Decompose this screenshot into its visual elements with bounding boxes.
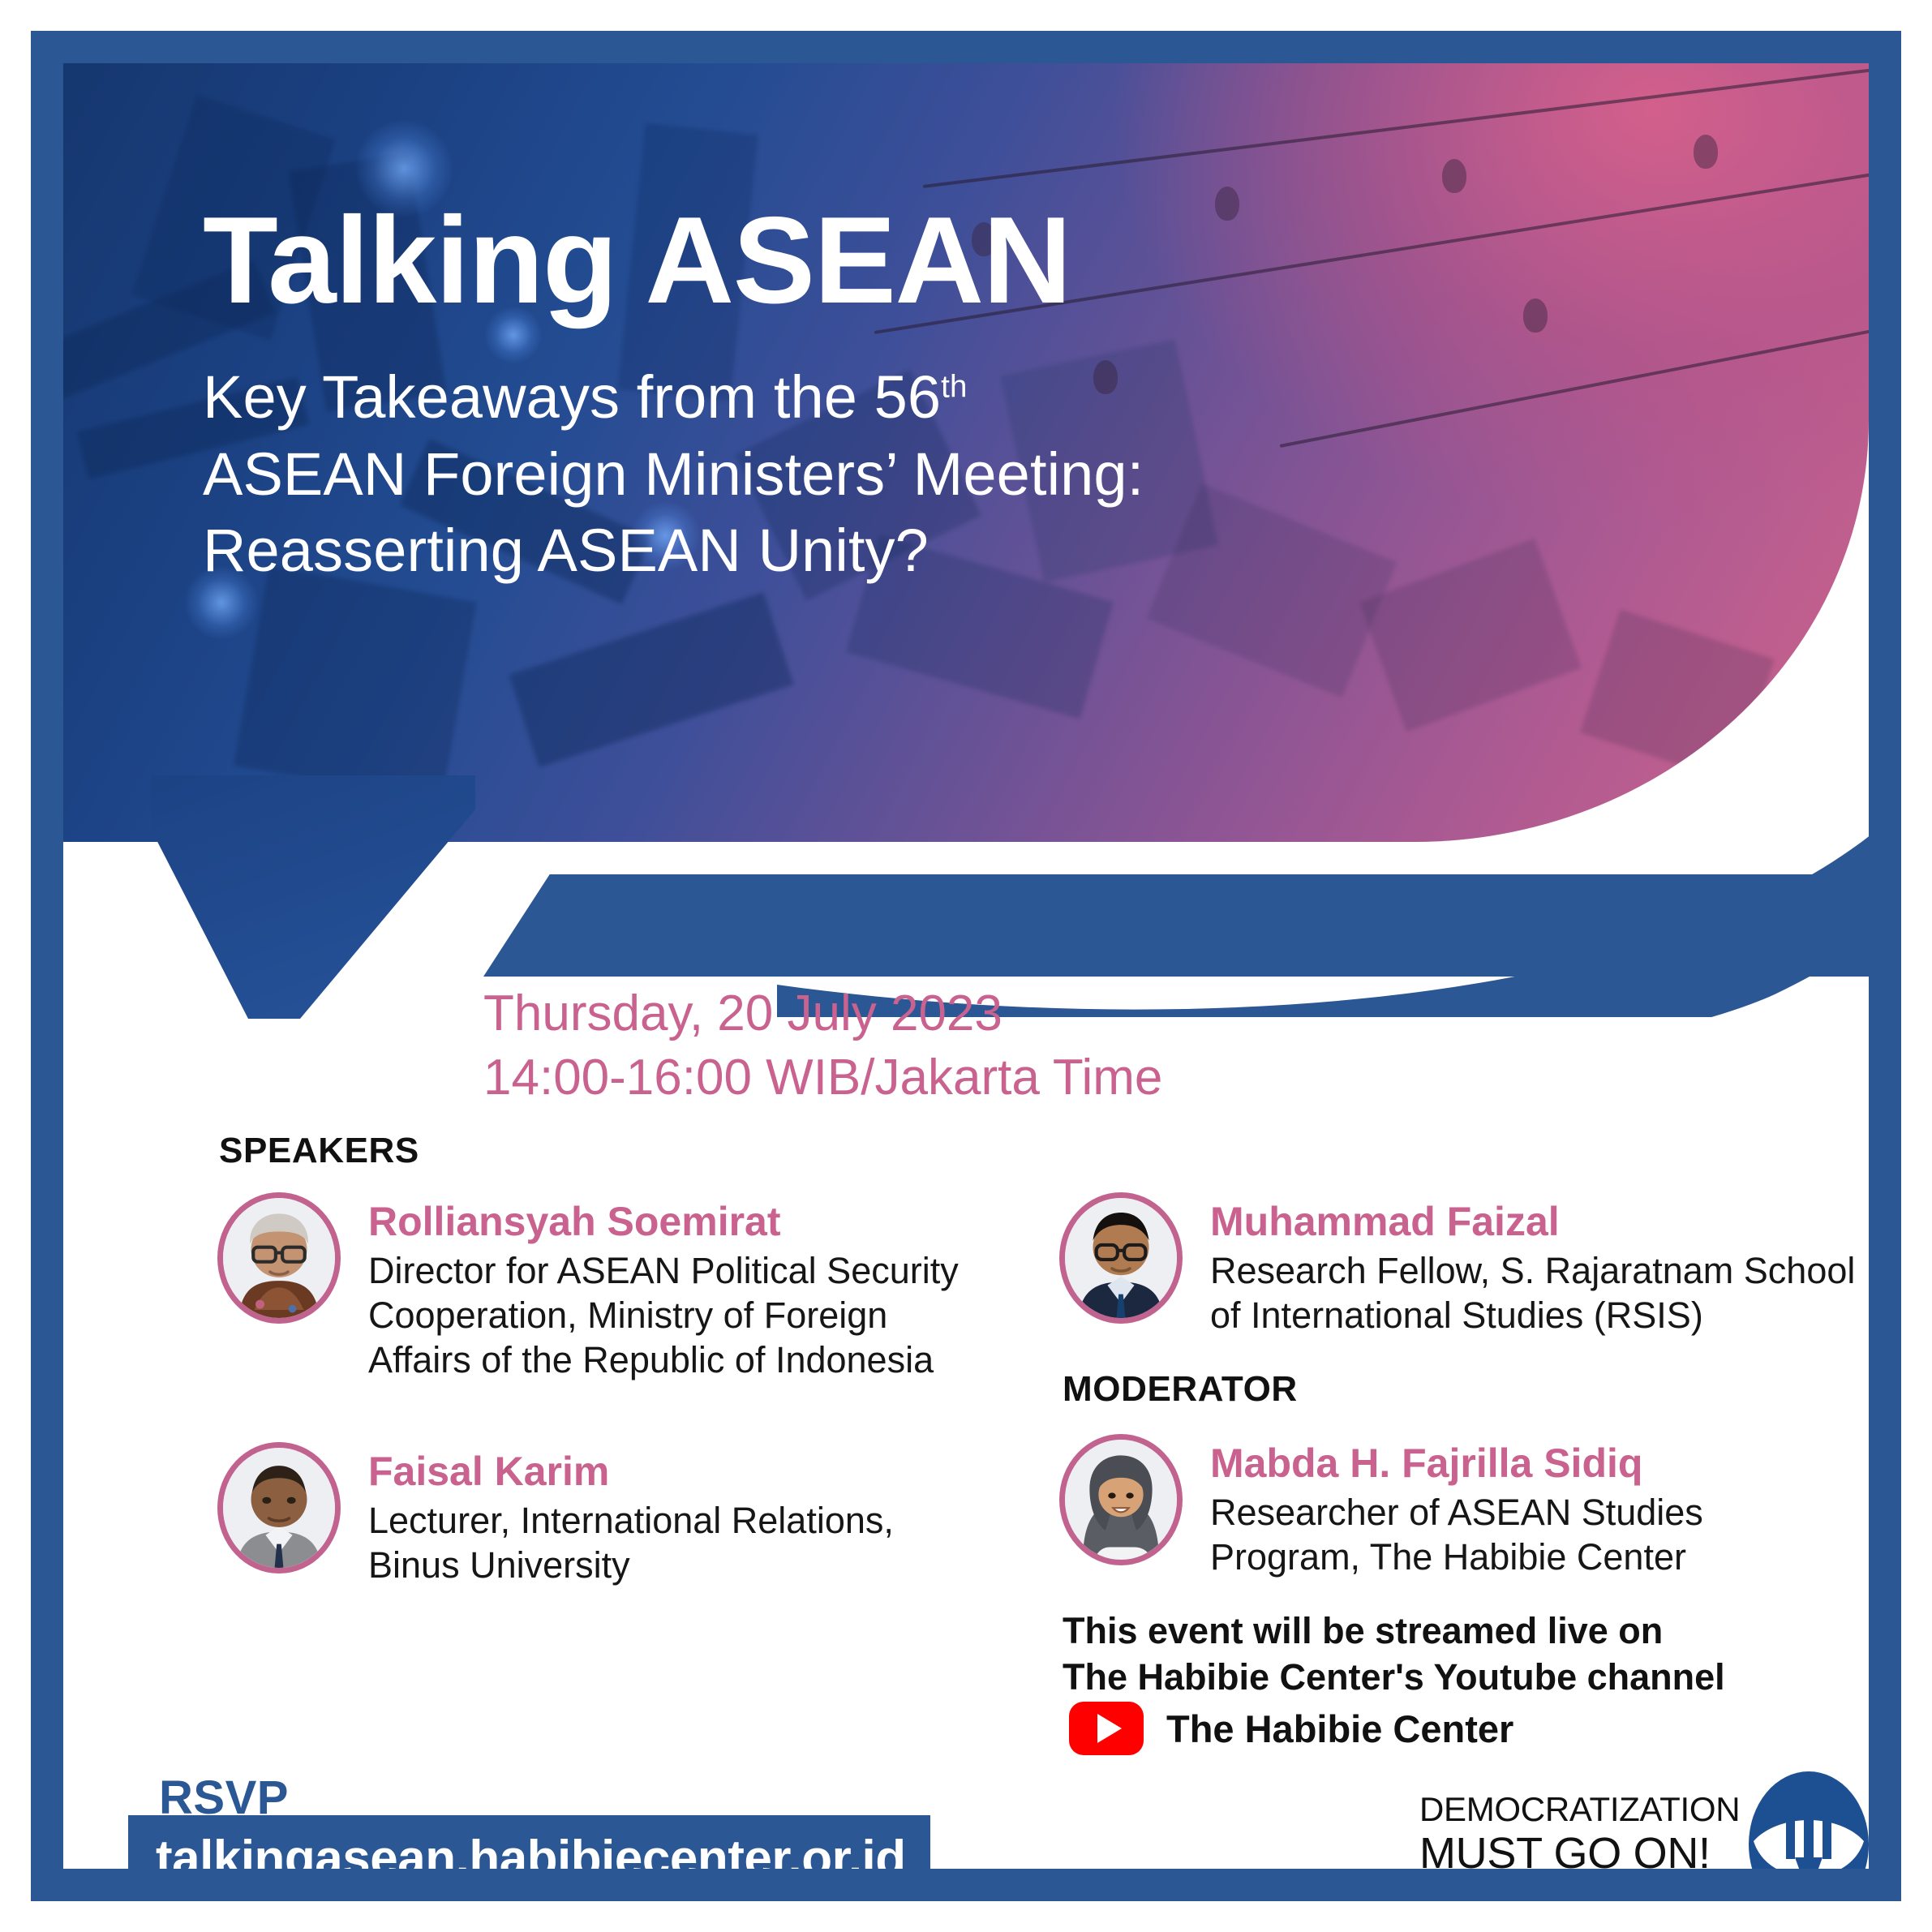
avatar-mabda-h-fajrilla-sidiq	[1059, 1434, 1183, 1565]
subtitle-line-1-text: Key Takeaways from the 56	[203, 363, 941, 431]
tagline-line-2: MUST GO ON!	[1419, 1831, 1740, 1869]
speaker-text: Rolliansyah Soemirat Director for ASEAN …	[368, 1192, 959, 1383]
avatar-muhammad-faizal	[1059, 1192, 1183, 1324]
rsvp-url-bar[interactable]: talkingasean.habibiecenter.or.id	[128, 1815, 930, 1869]
speaker-name: Faisal Karim	[368, 1449, 894, 1494]
string-light-bulb	[1523, 298, 1548, 333]
speaker-role: Lecturer, International Relations, Binus…	[368, 1499, 894, 1588]
speaker-text: Faisal Karim Lecturer, International Rel…	[368, 1442, 894, 1588]
poster: Talking ASEAN Key Takeaways from the 56t…	[0, 0, 1932, 1932]
moderator-text: Mabda H. Fajrilla Sidiq Researcher of AS…	[1210, 1434, 1703, 1580]
blue-banner-stripe	[483, 874, 1869, 977]
ordinal-suffix: th	[941, 369, 967, 404]
youtube-channel-row[interactable]: The Habibie Center	[1069, 1702, 1513, 1755]
moderator-name: Mabda H. Fajrilla Sidiq	[1210, 1440, 1703, 1486]
rsvp-url[interactable]: talkingasean.habibiecenter.or.id	[156, 1830, 906, 1869]
speaker-name: Muhammad Faizal	[1210, 1199, 1855, 1244]
poster-inner-canvas: Talking ASEAN Key Takeaways from the 56t…	[63, 63, 1869, 1869]
event-datetime: Thursday, 20 July 2023 14:00-16:00 WIB/J…	[483, 981, 1162, 1110]
poster-blue-frame: Talking ASEAN Key Takeaways from the 56t…	[31, 31, 1901, 1901]
event-time: 14:00-16:00 WIB/Jakarta Time	[483, 1045, 1162, 1110]
page-title: Talking ASEAN	[203, 198, 1419, 324]
avatar-faisal-karim	[217, 1442, 341, 1574]
subtitle-line-1: Key Takeaways from the 56th	[203, 359, 1419, 436]
tagline: DEMOCRATIZATION MUST GO ON!	[1419, 1792, 1740, 1869]
speaker-role: Research Fellow, S. Rajaratnam School of…	[1210, 1249, 1855, 1338]
youtube-icon[interactable]	[1069, 1702, 1144, 1755]
speaker-text: Muhammad Faizal Research Fellow, S. Raja…	[1210, 1192, 1855, 1338]
hero-text-block: Talking ASEAN Key Takeaways from the 56t…	[203, 198, 1419, 590]
string-light-bulb	[1442, 159, 1466, 193]
moderator-card: Mabda H. Fajrilla Sidiq Researcher of AS…	[1059, 1434, 1703, 1580]
moderator-role: Researcher of ASEAN Studies Program, The…	[1210, 1491, 1703, 1580]
speakers-heading: SPEAKERS	[219, 1131, 419, 1171]
avatar-rolliansyah-soemirat	[217, 1192, 341, 1324]
string-light-bulb	[1694, 135, 1718, 169]
string-light-wire	[923, 63, 1869, 188]
speaker-card: Rolliansyah Soemirat Director for ASEAN …	[217, 1192, 959, 1383]
hero-banner: Talking ASEAN Key Takeaways from the 56t…	[63, 63, 1869, 842]
youtube-channel-name: The Habibie Center	[1166, 1707, 1513, 1751]
flag-decoration	[1580, 609, 1775, 783]
moderator-heading: MODERATOR	[1063, 1369, 1298, 1410]
habibie-center-logo-icon	[1736, 1767, 1869, 1869]
speaker-name: Rolliansyah Soemirat	[368, 1199, 959, 1244]
speaker-card: Faisal Karim Lecturer, International Rel…	[217, 1442, 894, 1588]
event-date: Thursday, 20 July 2023	[483, 981, 1162, 1045]
flag-decoration	[234, 565, 476, 801]
stream-note: This event will be streamed live on The …	[1063, 1608, 1725, 1700]
flag-decoration	[509, 592, 794, 767]
speaker-card: Muhammad Faizal Research Fellow, S. Raja…	[1059, 1192, 1855, 1338]
subtitle-line-3: Reasserting ASEAN Unity?	[203, 513, 1419, 590]
subtitle-line-2: ASEAN Foreign Ministers’ Meeting:	[203, 436, 1419, 513]
page-subtitle: Key Takeaways from the 56th ASEAN Foreig…	[203, 359, 1419, 590]
speaker-role: Director for ASEAN Political Security Co…	[368, 1249, 959, 1383]
tagline-line-1: DEMOCRATIZATION	[1419, 1792, 1740, 1827]
